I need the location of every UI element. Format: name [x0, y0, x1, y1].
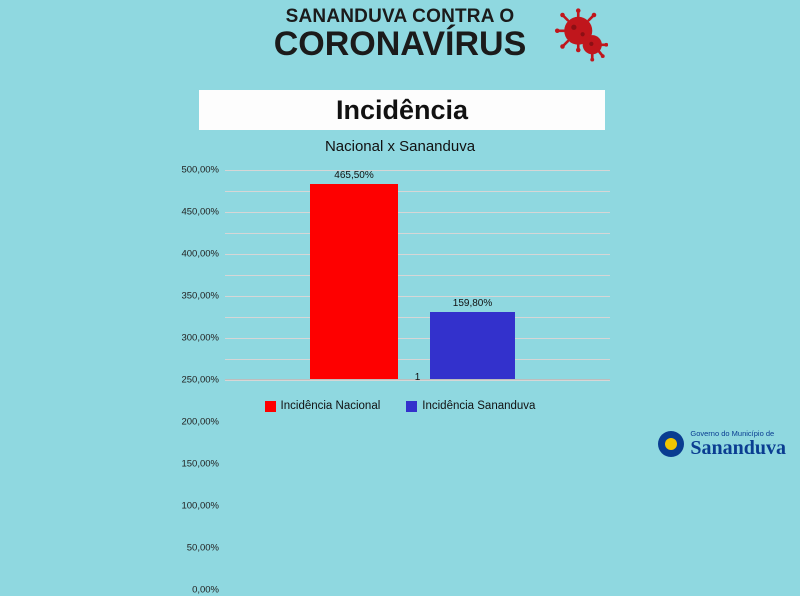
- chart-title-banner: Incidência: [199, 90, 605, 130]
- logo-text: Governo do Município de Sananduva: [690, 430, 786, 459]
- y-axis-label: 0,00%: [192, 585, 219, 596]
- city-seal-icon: [658, 431, 684, 457]
- gridline: 50,00%: [225, 359, 610, 360]
- legend-label: Incidência Sananduva: [422, 400, 535, 412]
- gridline: 500,00%: [225, 170, 610, 171]
- gridline: 350,00%: [225, 233, 610, 234]
- x-tick-label: 1: [225, 372, 610, 383]
- city-logo: Governo do Município de Sananduva: [658, 430, 786, 459]
- legend-item[interactable]: Incidência Nacional: [265, 400, 381, 412]
- gridline: 100,00%: [225, 338, 610, 339]
- y-axis-label: 350,00%: [181, 291, 219, 302]
- chart-subtitle: Nacional x Sananduva: [0, 138, 800, 155]
- plot-area: 500,00%450,00%400,00%350,00%300,00%250,0…: [225, 170, 610, 380]
- y-axis-label: 250,00%: [181, 375, 219, 386]
- y-axis-label: 50,00%: [187, 543, 219, 554]
- logo-gov-label: Governo do Município de: [690, 430, 786, 438]
- logo-city-name: Sananduva: [690, 438, 786, 458]
- bar-nacional: 465,50%: [310, 184, 398, 380]
- virus-icon: [552, 8, 608, 64]
- gridline: 300,00%: [225, 254, 610, 255]
- chart-legend: Incidência NacionalIncidência Sananduva: [0, 400, 800, 412]
- y-axis-label: 150,00%: [181, 459, 219, 470]
- legend-item[interactable]: Incidência Sananduva: [406, 400, 535, 412]
- y-axis-label: 300,00%: [181, 333, 219, 344]
- page-header: SANANDUVA CONTRA O CORONAVÍRUS: [0, 6, 800, 84]
- header-title-group: SANANDUVA CONTRA O CORONAVÍRUS: [230, 6, 570, 62]
- header-line2: CORONAVÍRUS: [230, 26, 570, 62]
- gridline: 400,00%: [225, 212, 610, 213]
- y-axis-label: 450,00%: [181, 207, 219, 218]
- y-axis-label: 200,00%: [181, 417, 219, 428]
- bar-value-label: 465,50%: [334, 170, 373, 181]
- gridline: 150,00%: [225, 317, 610, 318]
- y-axis-label: 400,00%: [181, 249, 219, 260]
- legend-swatch: [265, 401, 276, 412]
- y-axis-label: 500,00%: [181, 165, 219, 176]
- legend-swatch: [406, 401, 417, 412]
- gridline: 200,00%: [225, 296, 610, 297]
- y-axis-label: 100,00%: [181, 501, 219, 512]
- bar-value-label: 159,80%: [453, 298, 492, 309]
- gridline: 450,00%: [225, 191, 610, 192]
- chart-title: Incidência: [336, 95, 468, 126]
- gridline: 250,00%: [225, 275, 610, 276]
- legend-label: Incidência Nacional: [281, 400, 381, 412]
- chart: 500,00%450,00%400,00%350,00%300,00%250,0…: [0, 160, 800, 400]
- bar-sananduva: 159,80%: [430, 312, 515, 379]
